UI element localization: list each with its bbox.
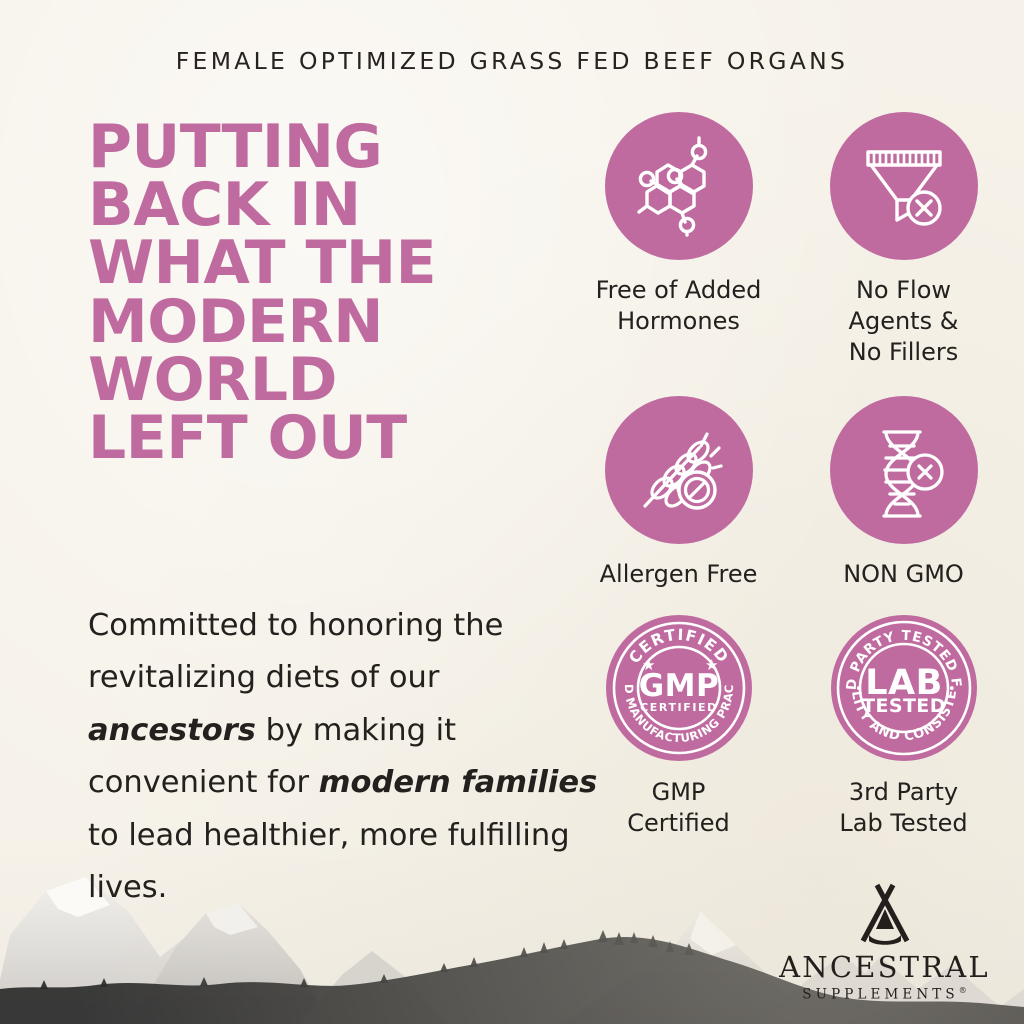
- dna-no-icon: [852, 418, 956, 522]
- gmp-center-sub: CERTIFIED: [640, 701, 718, 714]
- badge-free-of-added-hormones: Free of Added Hormones: [566, 112, 791, 369]
- badge-caption: Free of Added Hormones: [596, 275, 762, 337]
- badge-grid: Free of Added Hormones: [566, 112, 1016, 839]
- badge-disc: [830, 396, 978, 544]
- headline-line-5: WORLD: [88, 351, 558, 409]
- headline-line-1: PUTTING: [88, 118, 558, 176]
- badge-allergen-free: Allergen Free: [566, 396, 791, 590]
- headline-line-4: MODERN: [88, 293, 558, 351]
- badge-disc: [605, 112, 753, 260]
- gmp-seal-icon: CERTIFIED GOOD MANUFACTURING PRACTICE ★ …: [605, 614, 753, 762]
- lab-tested-seal-icon: 3RD PARTY TESTED FOR QUALITY AND CONSIST…: [830, 614, 978, 762]
- headline-line-2: BACK IN: [88, 176, 558, 234]
- badge-non-gmo: NON GMO: [791, 396, 1016, 590]
- badge-caption: Allergen Free: [600, 559, 758, 590]
- body-paragraph: Committed to honoring the revitalizing d…: [88, 600, 608, 915]
- body-emphasis-modern-families: modern families: [319, 765, 597, 800]
- registered-mark: ®: [959, 986, 967, 995]
- body-text-part-1: Committed to honoring the revitalizing d…: [88, 608, 503, 695]
- badge-caption: GMP Certified: [627, 777, 730, 839]
- gmp-center-main: GMP: [638, 668, 719, 704]
- badge-lab-tested: 3RD PARTY TESTED FOR QUALITY AND CONSIST…: [791, 614, 1016, 839]
- badge-row-1: Free of Added Hormones: [566, 112, 1016, 369]
- lab-center-sub: TESTED: [862, 695, 946, 717]
- badge-caption: NON GMO: [843, 559, 964, 590]
- badge-caption: No Flow Agents & No Fillers: [849, 275, 959, 369]
- funnel-no-icon: [852, 134, 956, 238]
- headline-line-6: LEFT OUT: [88, 409, 558, 467]
- logo-wordmark: ANCESTRAL: [779, 953, 990, 982]
- badge-disc: 3RD PARTY TESTED FOR QUALITY AND CONSIST…: [830, 614, 978, 762]
- poster-canvas: FEMALE OPTIMIZED GRASS FED BEEF ORGANS P…: [0, 0, 1024, 1024]
- badge-no-flow-agents: No Flow Agents & No Fillers: [791, 112, 1016, 369]
- wheat-prohibited-icon: [627, 418, 731, 522]
- badge-row-2: Allergen Free: [566, 396, 1016, 590]
- badge-disc: [605, 396, 753, 544]
- headline-line-3: WHAT THE: [88, 234, 558, 292]
- lab-dot-right: •: [948, 682, 956, 697]
- brand-logo: ANCESTRAL SUPPLEMENTS®: [777, 883, 992, 1002]
- badge-disc: [830, 112, 978, 260]
- logo-subtext-label: SUPPLEMENTS: [802, 987, 958, 1003]
- badge-row-3: CERTIFIED GOOD MANUFACTURING PRACTICE ★ …: [566, 614, 1016, 839]
- molecule-icon: [627, 134, 731, 238]
- badge-gmp-certified: CERTIFIED GOOD MANUFACTURING PRACTICE ★ …: [566, 614, 791, 839]
- page-title: PUTTING BACK IN WHAT THE MODERN WORLD LE…: [88, 118, 558, 467]
- badge-disc: CERTIFIED GOOD MANUFACTURING PRACTICE ★ …: [605, 614, 753, 762]
- badge-caption: 3rd Party Lab Tested: [839, 777, 967, 839]
- teepee-logo-icon: [847, 883, 923, 947]
- logo-subtext: SUPPLEMENTS®: [802, 987, 966, 1002]
- body-text-part-3: to lead healthier, more fulfilling lives…: [88, 818, 570, 905]
- body-emphasis-ancestors: ancestors: [88, 713, 256, 748]
- eyebrow-headline: FEMALE OPTIMIZED GRASS FED BEEF ORGANS: [0, 47, 1024, 75]
